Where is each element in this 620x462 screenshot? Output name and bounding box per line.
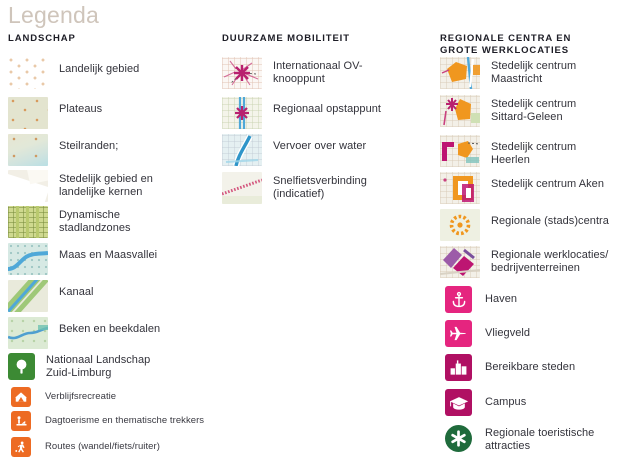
legend-label: Stedelijk centrum Maastricht bbox=[491, 60, 576, 86]
map-swatch-plateaus bbox=[8, 97, 48, 129]
legend-item-regionale-toeristische-attracties[interactable]: Regionale toeristische attracties bbox=[440, 425, 594, 453]
legend-item-beken-en-beekdalen[interactable]: Beken en beekdalen bbox=[8, 317, 160, 349]
legend-label: Vliegveld bbox=[485, 327, 530, 340]
map-swatch-steilranden bbox=[8, 134, 48, 166]
legend-item-plateaus[interactable]: Plateaus bbox=[8, 97, 102, 129]
column-heading-landschap: LANDSCHAP bbox=[8, 33, 76, 45]
canal-shape-icon bbox=[8, 280, 48, 312]
fast-cycle-route-line-icon bbox=[222, 172, 262, 204]
legend-page: Legenda LANDSCHAP Landelijk gebied Plate… bbox=[0, 0, 620, 462]
legend-item-landelijk-gebied[interactable]: Landelijk gebied bbox=[8, 57, 139, 89]
column-heading-centra: REGIONALE CENTRA EN GROTE WERKLOCATIES bbox=[440, 33, 600, 57]
column-heading-mobiliteit: DUURZAME MOBILITEIT bbox=[222, 33, 350, 45]
map-swatch-centrum-sittard-geleen bbox=[440, 95, 480, 127]
map-swatch-centrum-aken bbox=[440, 172, 480, 204]
legend-label: Regionaal opstappunt bbox=[273, 103, 381, 116]
legend-item-campus[interactable]: Campus bbox=[440, 389, 526, 416]
legend-label: Beken en beekdalen bbox=[59, 323, 160, 336]
legend-item-routes[interactable]: Routes (wandel/fiets/ruiter) bbox=[8, 437, 160, 457]
map-swatch-regionaal-opstappunt bbox=[222, 97, 262, 129]
legend-item-verblijfsrecreatie[interactable]: Verblijfsrecreatie bbox=[8, 387, 116, 407]
asterisk-star-icon bbox=[445, 425, 472, 452]
legend-item-vliegveld[interactable]: Vliegveld bbox=[440, 320, 530, 347]
legend-item-regionale-stadscentra[interactable]: Regionale (stads)centra bbox=[440, 209, 609, 241]
map-swatch-stedelijk-gebied bbox=[8, 170, 48, 202]
legend-label: Dagtoerisme en thematische trekkers bbox=[45, 415, 204, 427]
map-swatch-snelfietsverbinding bbox=[222, 172, 262, 204]
legend-item-centrum-sittard-geleen[interactable]: Stedelijk centrum Sittard-Geleen bbox=[440, 95, 576, 127]
legend-item-internationaal-ov-knooppunt[interactable]: Internationaal OV- knooppunt bbox=[222, 57, 363, 89]
business-park-shape-icon bbox=[440, 246, 480, 278]
aken-shape-icon bbox=[440, 172, 480, 204]
legend-item-dagtoerisme[interactable]: Dagtoerisme en thematische trekkers bbox=[8, 411, 204, 431]
legend-label: Landelijk gebied bbox=[59, 63, 139, 76]
legend-label: Internationaal OV- knooppunt bbox=[273, 60, 363, 86]
legend-label: Steilranden; bbox=[59, 140, 118, 153]
legend-item-centrum-heerlen[interactable]: Stedelijk centrum Heerlen bbox=[440, 135, 615, 167]
city-buildings-icon bbox=[445, 354, 472, 381]
stream-shape-icon bbox=[8, 317, 48, 349]
legend-item-kanaal[interactable]: Kanaal bbox=[8, 280, 94, 312]
map-swatch-regionale-stadscentra bbox=[440, 209, 480, 241]
map-swatch-regionale-werklocaties bbox=[440, 246, 480, 278]
regional-centre-ring-icon bbox=[440, 209, 480, 241]
legend-item-haven[interactable]: Haven bbox=[440, 286, 517, 313]
legend-label: Haven bbox=[485, 293, 517, 306]
legend-item-centrum-aken[interactable]: Stedelijk centrum Aken bbox=[440, 172, 604, 204]
legend-item-maas-en-maasvallei[interactable]: Maas en Maasvallei bbox=[8, 243, 157, 275]
legend-label: Stedelijk gebied en landelijke kernen bbox=[59, 173, 153, 199]
legend-label: Stedelijk centrum Heerlen bbox=[491, 141, 615, 167]
legend-item-dynamische-stadlandzones[interactable]: Dynamische stadlandzones bbox=[8, 206, 131, 238]
legend-item-vervoer-over-water[interactable]: Vervoer over water bbox=[222, 134, 366, 166]
attraction-icon bbox=[11, 411, 31, 431]
legend-label: Routes (wandel/fiets/ruiter) bbox=[45, 441, 160, 453]
sittard-geleen-shape-icon bbox=[440, 95, 480, 127]
legend-item-nationaal-landschap[interactable]: Nationaal Landschap Zuid-Limburg bbox=[8, 353, 150, 380]
graduation-cap-icon bbox=[445, 389, 472, 416]
map-swatch-centrum-heerlen bbox=[440, 135, 480, 167]
legend-label: Dynamische stadlandzones bbox=[59, 209, 131, 235]
anchor-icon bbox=[445, 286, 472, 313]
heerlen-shape-icon bbox=[440, 135, 480, 167]
legend-item-regionale-werklocaties[interactable]: Regionale werklocaties/ bedrijventerrein… bbox=[440, 246, 608, 278]
map-swatch-beken-en-beekdalen bbox=[8, 317, 48, 349]
legend-label: Regionale (stads)centra bbox=[491, 215, 609, 228]
legend-label: Vervoer over water bbox=[273, 140, 366, 153]
legend-label: Regionale toeristische attracties bbox=[485, 427, 594, 453]
river-shape-icon bbox=[8, 243, 48, 275]
legend-label: Nationaal Landschap Zuid-Limburg bbox=[46, 354, 150, 380]
legend-item-stedelijk-gebied[interactable]: Stedelijk gebied en landelijke kernen bbox=[8, 170, 153, 202]
legend-item-centrum-maastricht[interactable]: Stedelijk centrum Maastricht bbox=[440, 57, 576, 89]
legend-label: Campus bbox=[485, 396, 526, 409]
opstappunt-star-icon bbox=[222, 97, 262, 129]
legend-label: Maas en Maasvallei bbox=[59, 249, 157, 262]
tree-icon bbox=[8, 353, 35, 380]
map-swatch-landelijk-gebied bbox=[8, 57, 48, 89]
legend-label: Plateaus bbox=[59, 103, 102, 116]
legend-label: Regionale werklocaties/ bedrijventerrein… bbox=[491, 249, 608, 275]
map-swatch-centrum-maastricht bbox=[440, 57, 480, 89]
map-swatch-maas-en-maasvallei bbox=[8, 243, 48, 275]
legend-label: Kanaal bbox=[59, 286, 94, 299]
legend-item-steilranden[interactable]: Steilranden; bbox=[8, 134, 118, 166]
legend-label: Snelfietsverbinding (indicatief) bbox=[273, 175, 367, 201]
page-title: Legenda bbox=[8, 2, 99, 29]
legend-item-bereikbare-steden[interactable]: Bereikbare steden bbox=[440, 354, 575, 381]
ov-hub-star-icon bbox=[222, 57, 262, 89]
tent-icon bbox=[11, 387, 31, 407]
legend-label: Stedelijk centrum Sittard-Geleen bbox=[491, 98, 576, 124]
legend-item-regionaal-opstappunt[interactable]: Regionaal opstappunt bbox=[222, 97, 381, 129]
map-swatch-vervoer-over-water bbox=[222, 134, 262, 166]
map-swatch-dynamische-stadlandzones bbox=[8, 206, 48, 238]
airplane-icon bbox=[445, 320, 472, 347]
legend-label: Stedelijk centrum Aken bbox=[491, 178, 604, 191]
hiker-icon bbox=[11, 437, 31, 457]
legend-label: Verblijfsrecreatie bbox=[45, 391, 116, 403]
map-swatch-ov-knooppunt bbox=[222, 57, 262, 89]
map-swatch-kanaal bbox=[8, 280, 48, 312]
legend-label: Bereikbare steden bbox=[485, 361, 575, 374]
maastricht-shape-icon bbox=[440, 57, 480, 89]
legend-item-snelfietsverbinding[interactable]: Snelfietsverbinding (indicatief) bbox=[222, 172, 367, 204]
waterway-line-icon bbox=[222, 134, 262, 166]
